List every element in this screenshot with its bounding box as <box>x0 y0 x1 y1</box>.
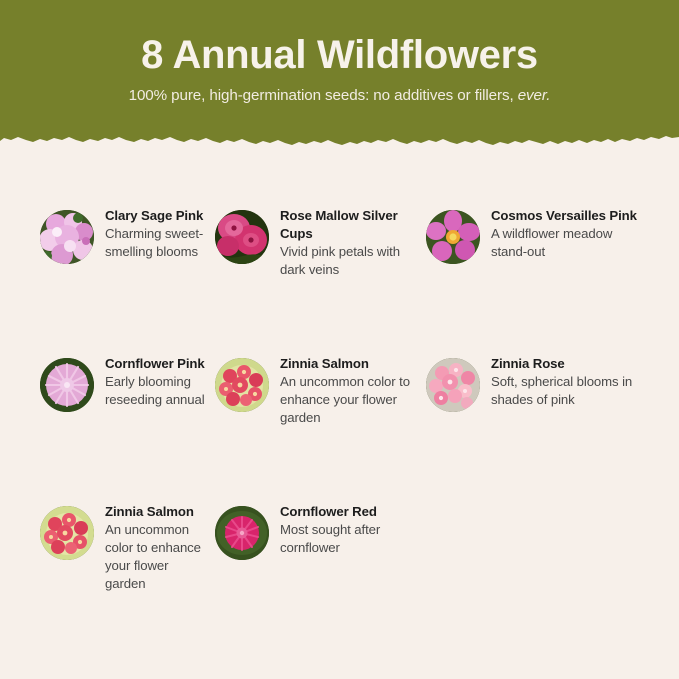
item-description: Soft, spherical blooms in shades of pink <box>491 373 633 409</box>
item-description: An uncommon color to enhance your flower… <box>105 521 212 593</box>
cosmos-versailles-pink-thumbnail <box>426 210 480 264</box>
wildflower-item-zinnia-salmon-2[interactable]: Zinnia Salmon An uncommon color to enhan… <box>0 492 212 640</box>
item-description: A wildflower meadow stand-out <box>491 225 633 261</box>
item-text-block: Cosmos Versailles Pink A wildflower mead… <box>480 196 637 261</box>
item-text-block: Clary Sage Pink Charming sweet-smelling … <box>94 196 212 261</box>
item-text-block: Zinnia Rose Soft, spherical blooms in sh… <box>480 344 633 409</box>
zinnia-salmon-thumbnail <box>40 506 94 560</box>
page-header: 8 Annual Wildflowers 100% pure, high-ger… <box>0 0 679 152</box>
wildflower-item-rose-mallow-silver-cups[interactable]: Rose Mallow Silver Cups Vivid pink petal… <box>212 196 418 344</box>
zinnia-salmon-thumbnail <box>215 358 269 412</box>
grid-row: Clary Sage Pink Charming sweet-smelling … <box>0 196 679 344</box>
item-description: Vivid pink petals with dark veins <box>280 243 418 279</box>
cornflower-pink-thumbnail <box>40 358 94 412</box>
item-text-block: Zinnia Salmon An uncommon color to enhan… <box>94 492 212 593</box>
item-title: Zinnia Salmon <box>105 503 212 521</box>
item-description: Most sought after cornflower <box>280 521 418 557</box>
cornflower-red-thumbnail <box>215 506 269 560</box>
item-title: Cornflower Pink <box>105 355 212 373</box>
wildflower-item-cornflower-red[interactable]: Cornflower Red Most sought after cornflo… <box>212 492 418 640</box>
item-description: Early blooming reseeding annual <box>105 373 212 409</box>
item-description: An uncommon color to enhance your flower… <box>280 373 418 427</box>
item-title: Rose Mallow Silver Cups <box>280 207 418 243</box>
page-title: 8 Annual Wildflowers <box>0 0 679 76</box>
item-title: Zinnia Rose <box>491 355 633 373</box>
item-text-block: Cornflower Red Most sought after cornflo… <box>269 492 418 557</box>
item-title: Cosmos Versailles Pink <box>491 207 637 225</box>
wildflower-item-cosmos-versailles-pink[interactable]: Cosmos Versailles Pink A wildflower mead… <box>418 196 679 344</box>
page-subtitle: 100% pure, high-germination seeds: no ad… <box>0 76 679 105</box>
clary-sage-pink-thumbnail <box>40 210 94 264</box>
wildflower-item-clary-sage-pink[interactable]: Clary Sage Pink Charming sweet-smelling … <box>0 196 212 344</box>
item-title: Clary Sage Pink <box>105 207 212 225</box>
grid-row: Zinnia Salmon An uncommon color to enhan… <box>0 492 679 640</box>
item-title: Cornflower Red <box>280 503 418 521</box>
grid-cell-empty <box>418 492 679 640</box>
wildflower-item-zinnia-salmon-1[interactable]: Zinnia Salmon An uncommon color to enhan… <box>212 344 418 492</box>
page-subtitle-main: 100% pure, high-germination seeds: no ad… <box>129 87 518 104</box>
grid-row: Cornflower Pink Early blooming reseeding… <box>0 344 679 492</box>
item-text-block: Rose Mallow Silver Cups Vivid pink petal… <box>269 196 418 279</box>
wildflower-grid: Clary Sage Pink Charming sweet-smelling … <box>0 196 679 640</box>
rose-mallow-silver-cups-thumbnail <box>215 210 269 264</box>
zinnia-rose-thumbnail <box>426 358 480 412</box>
header-text-block: 8 Annual Wildflowers 100% pure, high-ger… <box>0 0 679 105</box>
item-title: Zinnia Salmon <box>280 355 418 373</box>
wildflower-item-zinnia-rose[interactable]: Zinnia Rose Soft, spherical blooms in sh… <box>418 344 679 492</box>
wildflower-item-cornflower-pink[interactable]: Cornflower Pink Early blooming reseeding… <box>0 344 212 492</box>
item-description: Charming sweet-smelling blooms <box>105 225 212 261</box>
item-text-block: Zinnia Salmon An uncommon color to enhan… <box>269 344 418 427</box>
item-text-block: Cornflower Pink Early blooming reseeding… <box>94 344 212 409</box>
page-subtitle-emphasis: ever. <box>518 87 551 104</box>
